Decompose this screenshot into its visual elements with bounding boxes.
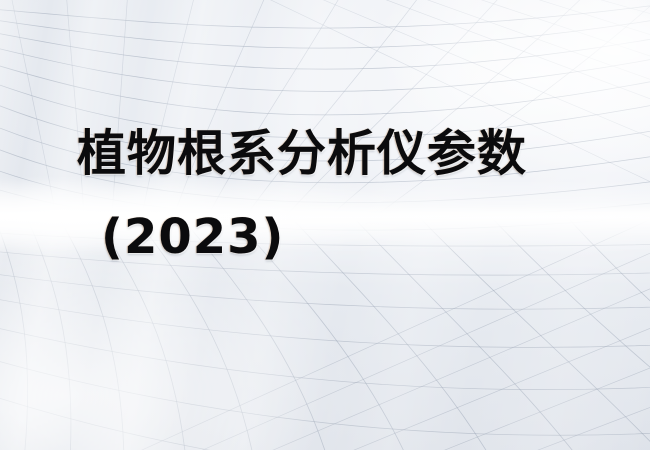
slide-title: 植物根系分析仪参数 (77, 125, 527, 183)
title-block: 植物根系分析仪参数 (2023) (0, 0, 650, 450)
slide-canvas: 植物根系分析仪参数 (2023) (0, 0, 650, 450)
slide-subtitle-year: (2023) (101, 208, 284, 266)
